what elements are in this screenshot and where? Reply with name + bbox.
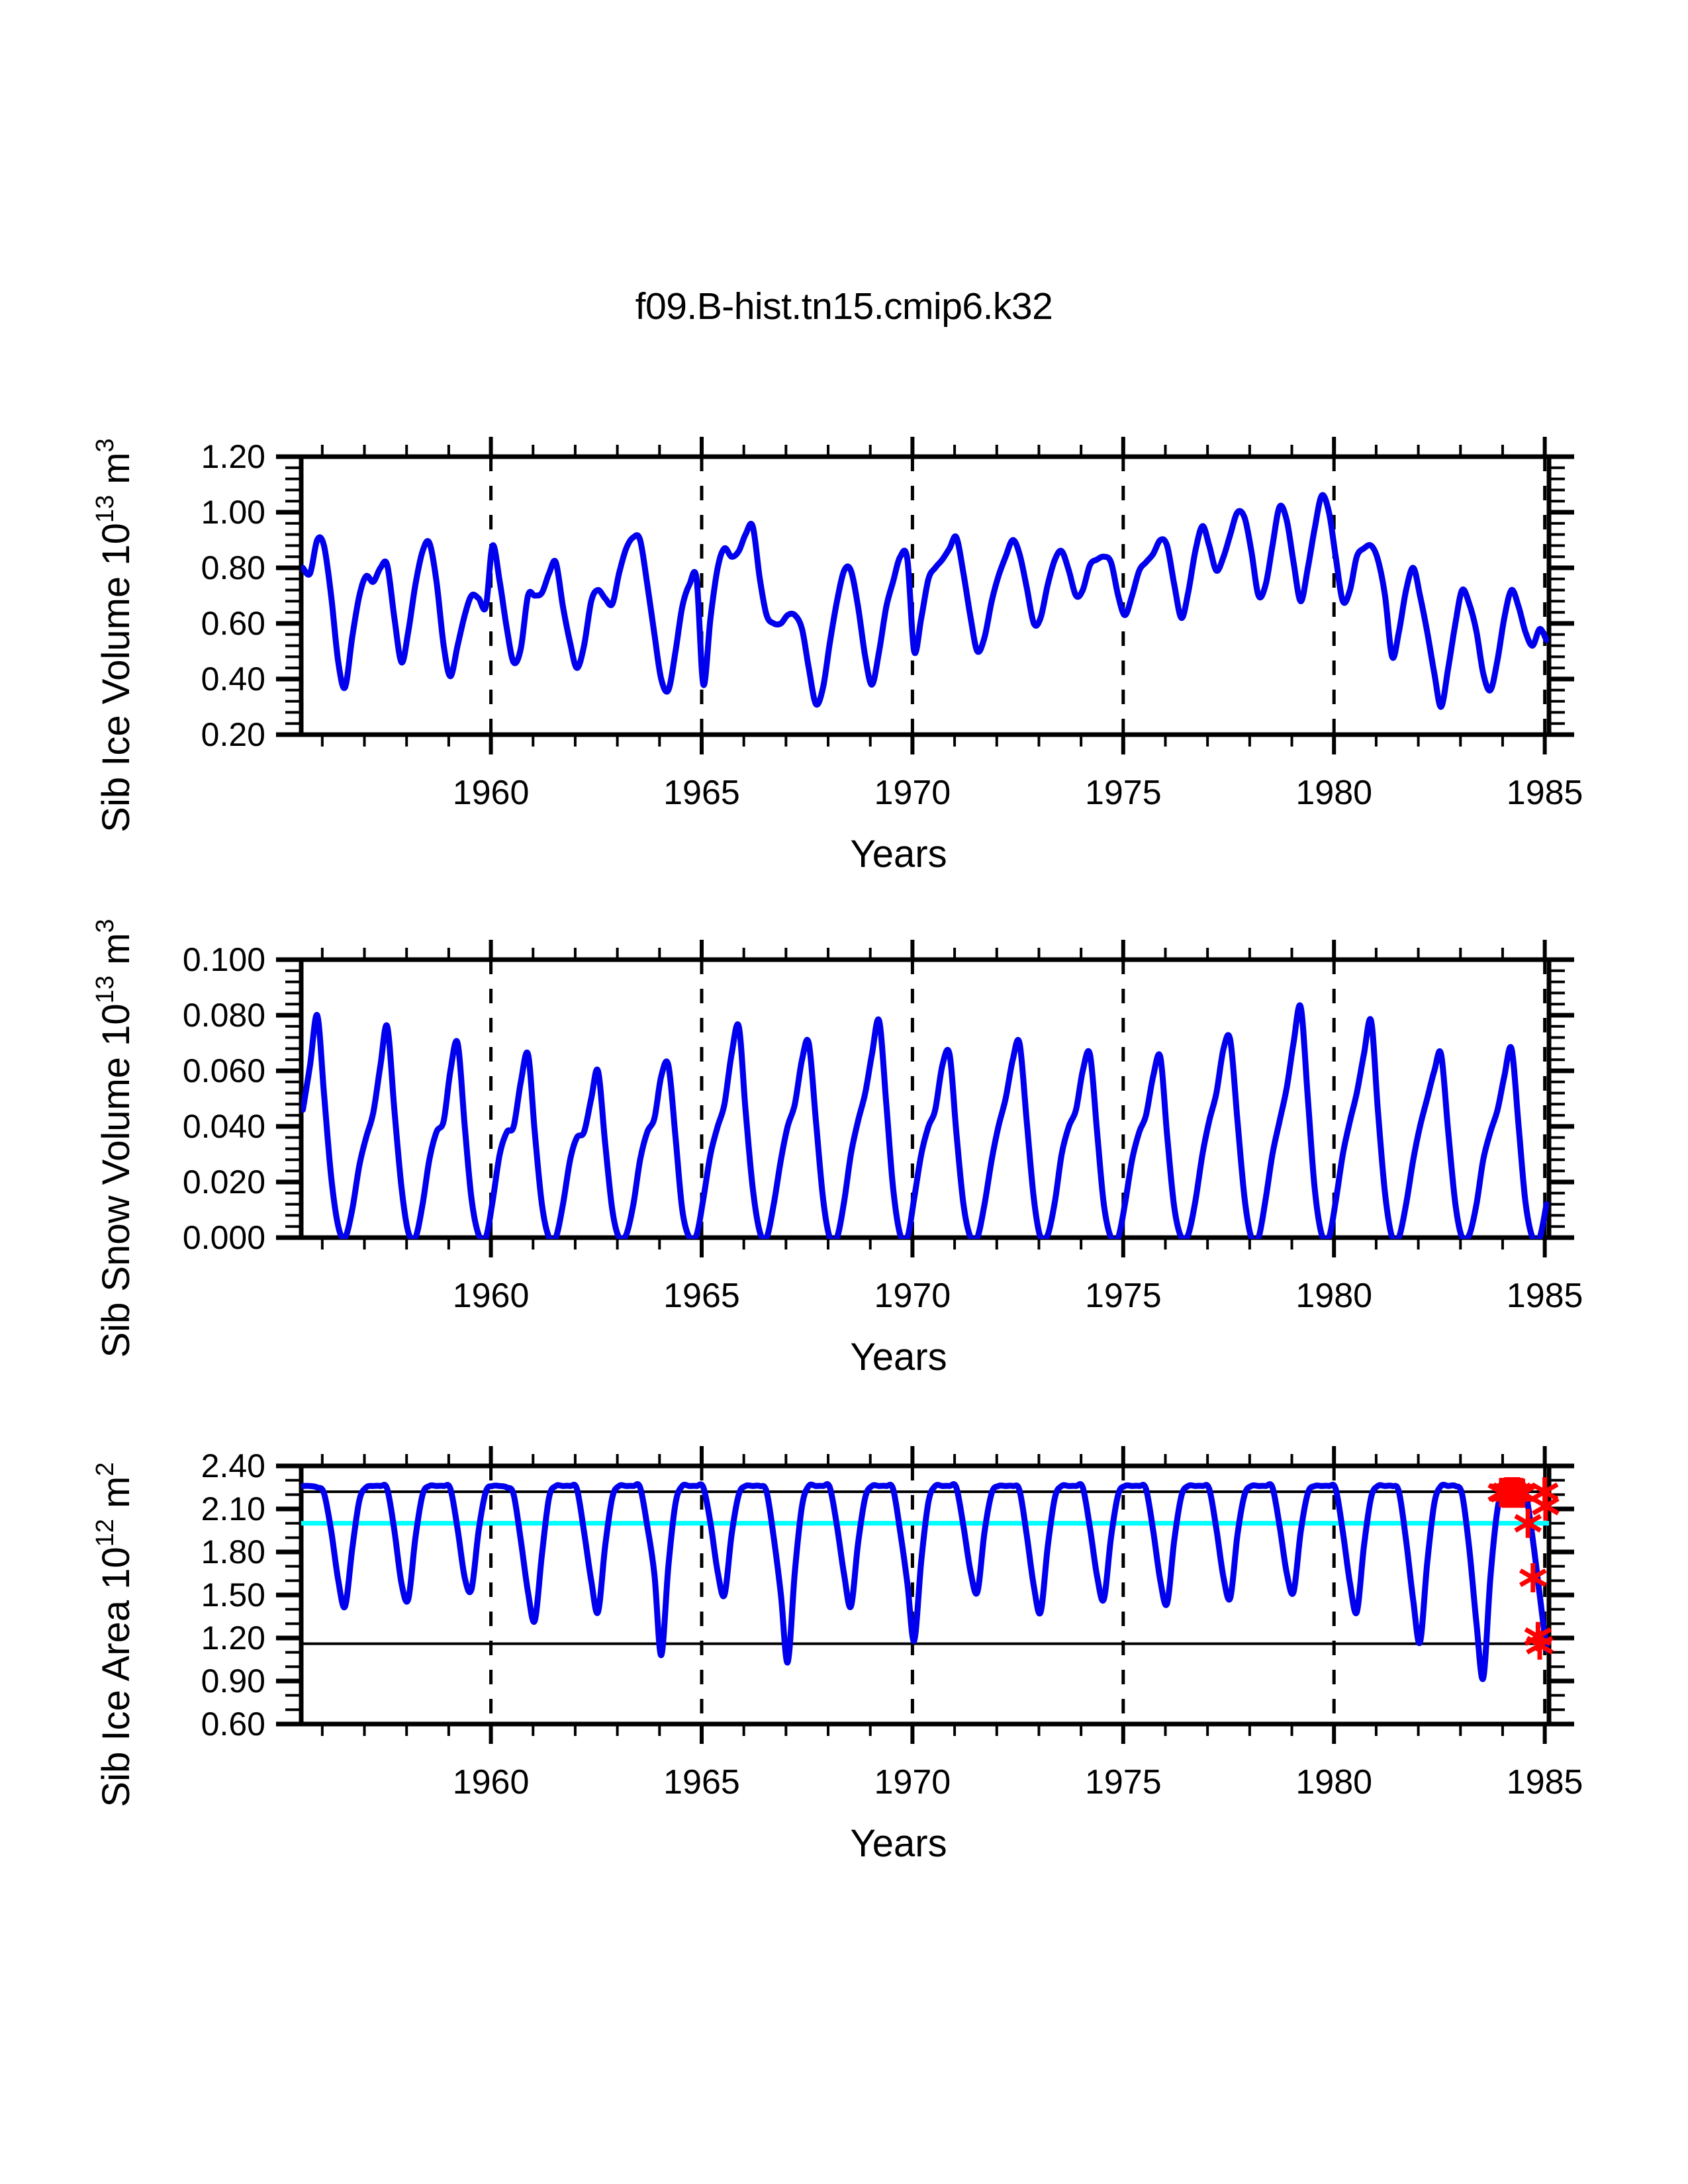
x-tick-label: 1985 [1507, 774, 1583, 812]
x-tick-label: 1970 [874, 1763, 951, 1801]
y-tick-label: 0.080 [183, 997, 265, 1034]
plot-frame [301, 960, 1549, 1238]
y-tick-label: 1.80 [201, 1533, 265, 1570]
panel-sib-snow-volume: 0.0000.0200.0400.0600.0800.1001960196519… [91, 919, 1583, 1379]
y-tick-label: 0.000 [183, 1219, 265, 1256]
x-tick-label: 1970 [874, 774, 951, 812]
panel-sib-ice-area: 0.600.901.201.501.802.102.40196019651970… [91, 1446, 1583, 1865]
y-tick-label: 0.20 [201, 716, 265, 753]
data-series-line [303, 1005, 1547, 1242]
x-tick-label: 1975 [1085, 1277, 1162, 1315]
x-tick-label: 1980 [1295, 774, 1372, 812]
y-axis-label: Sib Snow Volume 1013 m3 [91, 919, 138, 1357]
panel-sib-ice-volume: 0.200.400.600.801.001.201960196519701975… [91, 437, 1583, 876]
figure-title: f09.B-hist.tn15.cmip6.k32 [0, 285, 1688, 328]
y-tick-label: 0.90 [201, 1662, 265, 1700]
y-tick-label: 2.10 [201, 1490, 265, 1527]
svg-text:Sib Ice Area 1012 m2: Sib Ice Area 1012 m2 [91, 1462, 138, 1807]
y-tick-label: 0.60 [201, 1706, 265, 1743]
y-tick-label: 1.00 [201, 494, 265, 531]
x-tick-label: 1980 [1295, 1763, 1372, 1801]
y-tick-label: 0.060 [183, 1052, 265, 1089]
y-tick-label: 2.40 [201, 1447, 265, 1484]
svg-text:Sib Snow Volume 1013 m3: Sib Snow Volume 1013 m3 [91, 919, 138, 1357]
y-axis-label: Sib Ice Volume 1013 m3 [91, 438, 138, 832]
x-tick-label: 1985 [1507, 1277, 1583, 1315]
x-tick-label: 1965 [663, 1277, 740, 1315]
y-tick-label: 0.40 [201, 660, 265, 698]
y-tick-label: 0.100 [183, 941, 265, 978]
x-axis-label: Years [850, 1336, 947, 1379]
svg-text:Sib Ice Volume 1013 m3: Sib Ice Volume 1013 m3 [91, 438, 138, 832]
x-tick-label: 1975 [1085, 774, 1162, 812]
x-tick-label: 1975 [1085, 1763, 1162, 1801]
y-tick-label: 1.20 [201, 1619, 265, 1657]
y-tick-label: 1.20 [201, 438, 265, 475]
x-tick-label: 1965 [663, 1763, 740, 1801]
y-tick-label: 0.60 [201, 605, 265, 642]
x-tick-label: 1960 [453, 1763, 530, 1801]
figure-root: f09.B-hist.tn15.cmip6.k32 0.200.400.600.… [0, 0, 1688, 2184]
x-tick-label: 1960 [453, 1277, 530, 1315]
y-tick-label: 0.80 [201, 549, 265, 586]
x-axis-label: Years [850, 833, 947, 876]
x-tick-label: 1960 [453, 774, 530, 812]
x-tick-label: 1965 [663, 774, 740, 812]
y-tick-label: 1.50 [201, 1576, 265, 1614]
y-tick-label: 0.020 [183, 1163, 265, 1201]
y-tick-label: 0.040 [183, 1108, 265, 1145]
x-tick-label: 1980 [1295, 1277, 1372, 1315]
x-axis-label: Years [850, 1822, 947, 1865]
y-axis-label: Sib Ice Area 1012 m2 [91, 1462, 138, 1807]
x-tick-label: 1985 [1507, 1763, 1583, 1801]
x-tick-label: 1970 [874, 1277, 951, 1315]
